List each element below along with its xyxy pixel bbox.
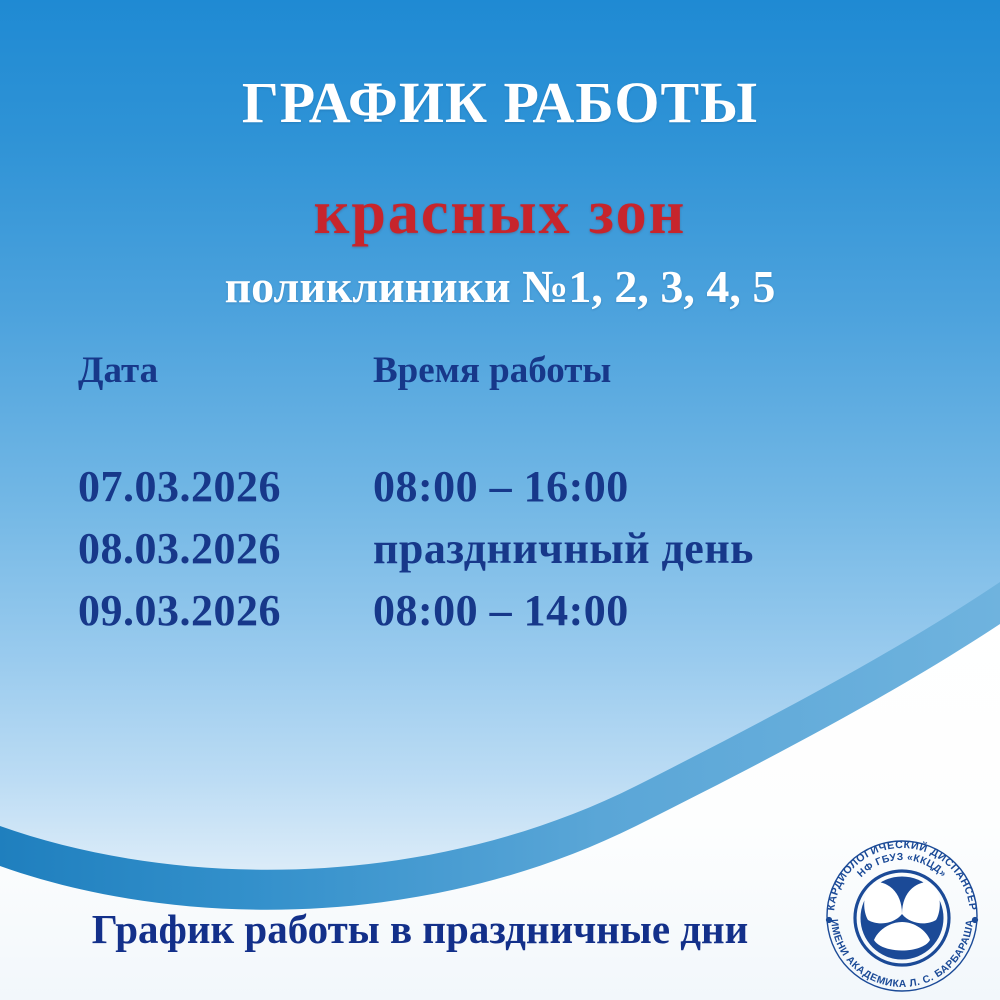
logo-icon: КАРДИОЛОГИЧЕСКИЙ ДИСПАНСЕР НФ ГБУЗ «ККЦД… bbox=[818, 828, 986, 994]
schedule-table: Дата Время работы 07.03.2026 08:00 – 16:… bbox=[78, 348, 908, 642]
poster-canvas: ГРАФИК РАБОТЫ красных зон поликлиники №1… bbox=[0, 0, 1000, 1000]
table-row: 09.03.2026 08:00 – 14:00 bbox=[78, 580, 908, 642]
table-body: 07.03.2026 08:00 – 16:00 08.03.2026 праз… bbox=[78, 456, 908, 642]
cell-time: 08:00 – 16:00 bbox=[373, 456, 629, 518]
logo-emblem bbox=[855, 871, 949, 965]
cell-time: праздничный день bbox=[373, 518, 754, 580]
organization-logo: КАРДИОЛОГИЧЕСКИЙ ДИСПАНСЕР НФ ГБУЗ «ККЦД… bbox=[818, 828, 986, 994]
title-clinics: поликлиники №1, 2, 3, 4, 5 bbox=[0, 262, 1000, 312]
table-header-row: Дата Время работы bbox=[78, 348, 908, 394]
title-red-zones: красных зон bbox=[0, 180, 1000, 246]
column-header-time: Время работы bbox=[373, 348, 611, 394]
cell-time: 08:00 – 14:00 bbox=[373, 580, 629, 642]
cell-date: 08.03.2026 bbox=[78, 518, 373, 580]
page-title: ГРАФИК РАБОТЫ bbox=[0, 72, 1000, 134]
column-header-date: Дата bbox=[78, 348, 373, 394]
footer-caption: График работы в праздничные дни bbox=[40, 905, 800, 953]
table-row: 07.03.2026 08:00 – 16:00 bbox=[78, 456, 908, 518]
cell-date: 09.03.2026 bbox=[78, 580, 373, 642]
table-row: 08.03.2026 праздничный день bbox=[78, 518, 908, 580]
cell-date: 07.03.2026 bbox=[78, 456, 373, 518]
